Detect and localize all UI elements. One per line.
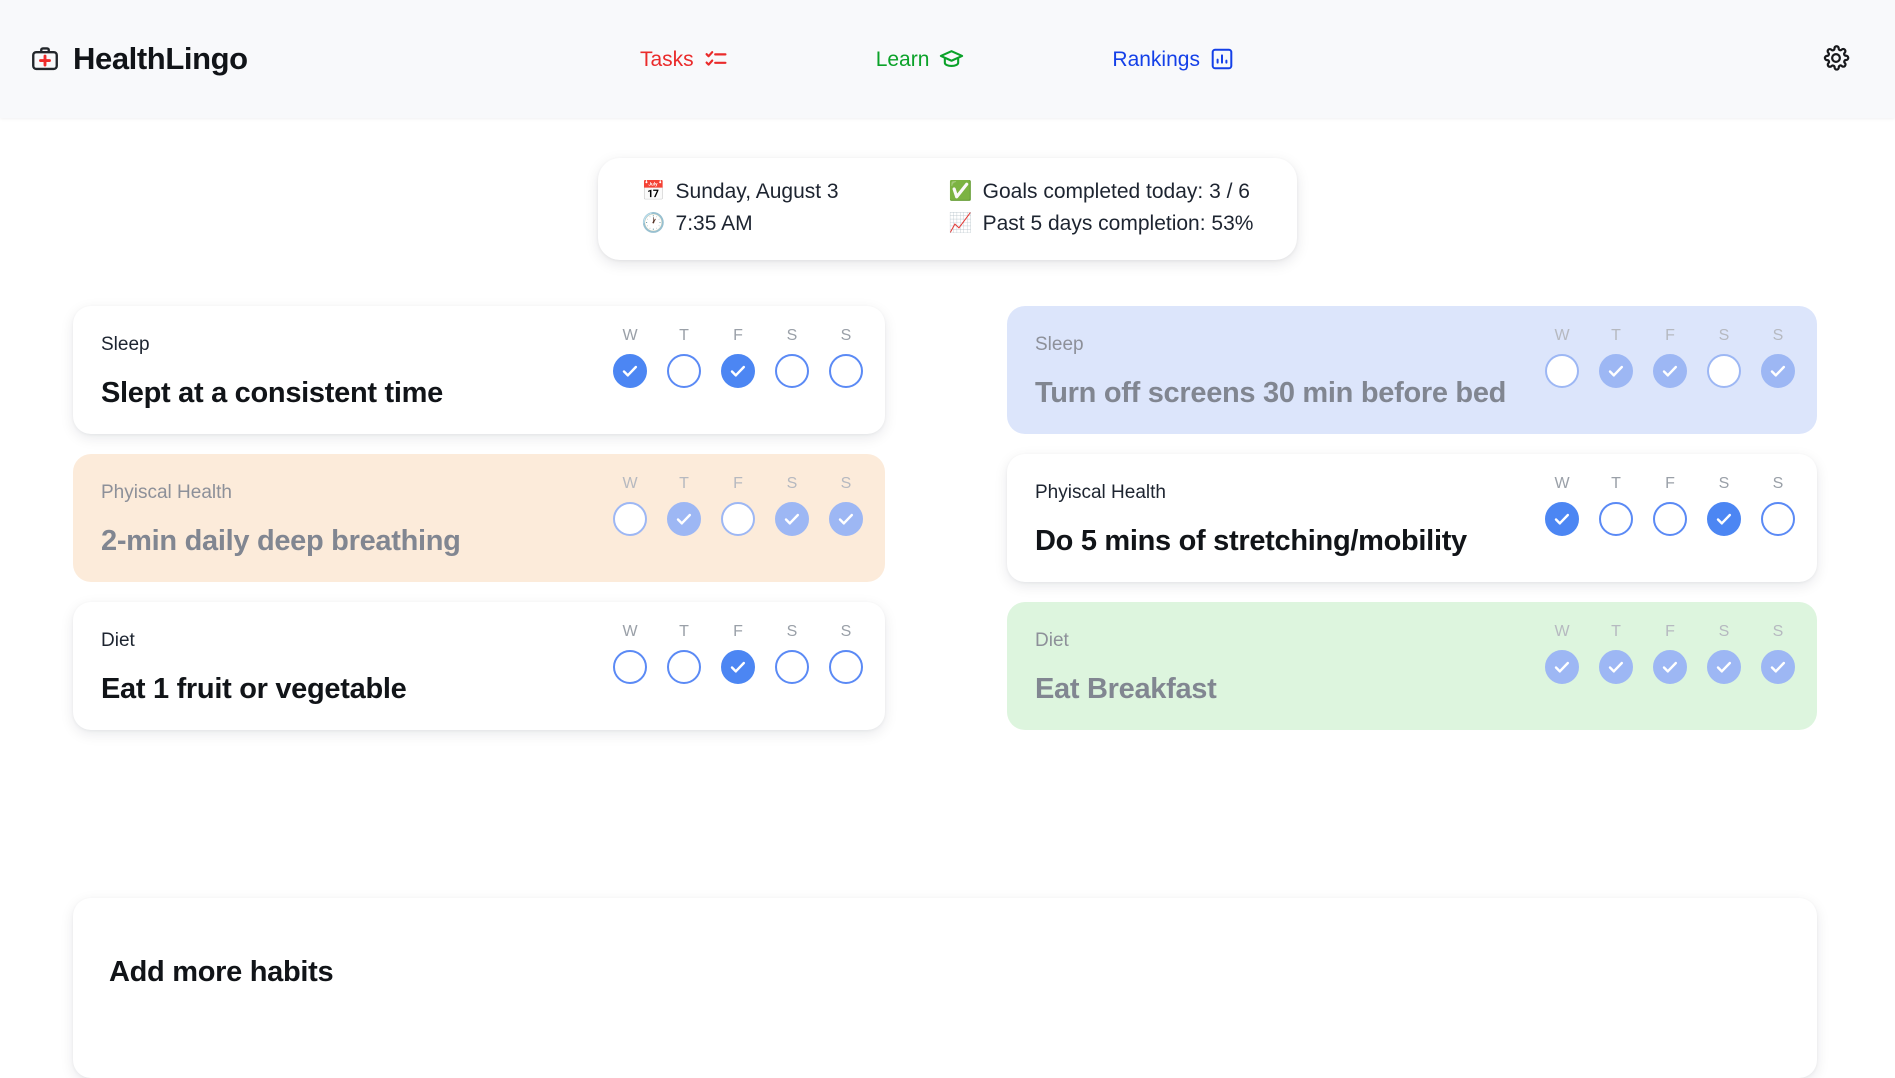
habit-card[interactable]: DietEat 1 fruit or vegetableWTFSS — [73, 602, 885, 730]
day-checkbox-unchecked[interactable] — [775, 354, 809, 388]
status-time-row: 🕐 7:35 AM — [642, 212, 839, 236]
day-label: S — [1773, 328, 1784, 344]
day-checkbox-unchecked[interactable] — [829, 354, 863, 388]
habit-card[interactable]: Phyiscal Health2-min daily deep breathin… — [73, 454, 885, 582]
check-icon — [836, 509, 856, 529]
habit-day-cell: F — [1653, 624, 1687, 684]
check-icon — [620, 361, 640, 381]
day-checkbox-checked[interactable] — [1653, 650, 1687, 684]
habit-week-tracker: WTFSS — [613, 328, 863, 388]
check-icon — [1768, 657, 1788, 677]
day-label: T — [1611, 328, 1621, 344]
habit-day-cell: F — [1653, 328, 1687, 388]
day-checkbox-unchecked[interactable] — [721, 502, 755, 536]
day-label: S — [787, 328, 798, 344]
day-label: S — [1719, 476, 1730, 492]
habit-day-cell: S — [775, 476, 809, 536]
day-label: T — [1611, 624, 1621, 640]
habit-week-tracker: WTFSS — [1545, 476, 1795, 536]
check-icon — [1768, 361, 1788, 381]
habit-day-cell: W — [1545, 624, 1579, 684]
day-checkbox-checked[interactable] — [1545, 502, 1579, 536]
day-label: F — [733, 328, 743, 344]
habit-week-tracker: WTFSS — [613, 476, 863, 536]
habit-day-cell: T — [1599, 624, 1633, 684]
day-checkbox-unchecked[interactable] — [667, 354, 701, 388]
check-icon — [1606, 361, 1626, 381]
day-checkbox-checked[interactable] — [1599, 650, 1633, 684]
day-checkbox-checked[interactable] — [1545, 650, 1579, 684]
check-icon — [728, 361, 748, 381]
chart-up-icon: 📈 — [949, 213, 971, 235]
status-summary-card: 📅 Sunday, August 3 🕐 7:35 AM ✅ Goals com… — [598, 158, 1298, 260]
day-label: W — [1554, 328, 1569, 344]
habit-day-cell: F — [721, 328, 755, 388]
habit-day-cell: S — [775, 328, 809, 388]
habit-day-cell: S — [775, 624, 809, 684]
checklist-icon — [704, 47, 728, 71]
habit-day-cell: T — [667, 328, 701, 388]
day-label: S — [787, 476, 798, 492]
habit-week-tracker: WTFSS — [1545, 328, 1795, 388]
day-label: W — [622, 476, 637, 492]
habit-week-tracker: WTFSS — [613, 624, 863, 684]
bar-chart-icon — [1210, 47, 1234, 71]
check-icon — [674, 509, 694, 529]
day-label: W — [1554, 624, 1569, 640]
day-checkbox-checked[interactable] — [1707, 650, 1741, 684]
day-checkbox-checked[interactable] — [1599, 354, 1633, 388]
gear-icon — [1822, 44, 1850, 75]
day-label: F — [1665, 476, 1675, 492]
day-checkbox-unchecked[interactable] — [613, 502, 647, 536]
habit-day-cell: W — [1545, 328, 1579, 388]
medical-bag-icon — [30, 44, 60, 74]
check-icon — [728, 657, 748, 677]
status-completion-text: Past 5 days completion: 53% — [983, 212, 1254, 236]
brand-title: HealthLingo — [73, 41, 248, 77]
add-more-habits-card[interactable]: Add more habits — [73, 898, 1817, 1078]
habit-day-cell: W — [613, 476, 647, 536]
check-icon — [1660, 361, 1680, 381]
day-label: S — [1719, 624, 1730, 640]
habit-day-cell: W — [1545, 476, 1579, 536]
day-checkbox-checked[interactable] — [1761, 354, 1795, 388]
clock-icon: 🕐 — [642, 213, 664, 235]
day-label: T — [679, 476, 689, 492]
day-label: W — [1554, 476, 1569, 492]
status-bar-wrapper: 📅 Sunday, August 3 🕐 7:35 AM ✅ Goals com… — [0, 158, 1895, 260]
day-checkbox-unchecked[interactable] — [667, 650, 701, 684]
brand-logo[interactable]: HealthLingo — [30, 41, 248, 77]
status-date-row: 📅 Sunday, August 3 — [642, 180, 839, 204]
day-checkbox-checked[interactable] — [1653, 354, 1687, 388]
habit-day-cell: T — [667, 476, 701, 536]
habit-day-cell: S — [1761, 624, 1795, 684]
nav-item-rankings[interactable]: Rankings — [1112, 47, 1234, 71]
day-label: S — [1719, 328, 1730, 344]
habit-grid: SleepSlept at a consistent timeWTFSSSlee… — [0, 306, 1895, 730]
nav-item-tasks-label: Tasks — [640, 49, 694, 70]
day-label: T — [679, 328, 689, 344]
day-checkbox-checked[interactable] — [721, 354, 755, 388]
day-checkbox-unchecked[interactable] — [1707, 354, 1741, 388]
nav-item-learn-label: Learn — [876, 49, 930, 70]
habit-day-cell: S — [829, 328, 863, 388]
habit-day-cell: S — [1707, 476, 1741, 536]
main-nav: Tasks Learn Rankings — [640, 0, 1234, 118]
day-label: S — [787, 624, 798, 640]
add-more-habits-title: Add more habits — [109, 956, 1817, 989]
habit-day-cell: F — [1653, 476, 1687, 536]
day-checkbox-unchecked[interactable] — [775, 650, 809, 684]
day-checkbox-unchecked[interactable] — [613, 650, 647, 684]
check-icon — [1552, 657, 1572, 677]
day-checkbox-unchecked[interactable] — [1761, 502, 1795, 536]
status-goals-text: Goals completed today: 3 / 6 — [983, 180, 1250, 204]
day-label: W — [622, 624, 637, 640]
day-label: F — [1665, 328, 1675, 344]
habit-day-cell: S — [1707, 624, 1741, 684]
day-label: T — [1611, 476, 1621, 492]
check-icon — [1714, 657, 1734, 677]
check-icon — [1660, 657, 1680, 677]
habit-day-cell: T — [1599, 476, 1633, 536]
habit-card[interactable]: DietEat BreakfastWTFSS — [1007, 602, 1817, 730]
day-checkbox-checked[interactable] — [775, 502, 809, 536]
habit-day-cell: S — [829, 624, 863, 684]
habit-day-cell: W — [613, 624, 647, 684]
day-label: F — [1665, 624, 1675, 640]
day-checkbox-unchecked[interactable] — [1653, 502, 1687, 536]
day-checkbox-unchecked[interactable] — [829, 650, 863, 684]
check-icon — [782, 509, 802, 529]
check-icon — [1552, 509, 1572, 529]
habit-day-cell: F — [721, 624, 755, 684]
day-label: S — [1773, 624, 1784, 640]
day-label: F — [733, 624, 743, 640]
day-label: T — [679, 624, 689, 640]
status-date-text: Sunday, August 3 — [676, 180, 839, 204]
day-label: W — [622, 328, 637, 344]
habit-day-cell: W — [613, 328, 647, 388]
habit-day-cell: F — [721, 476, 755, 536]
status-progress-column: ✅ Goals completed today: 3 / 6 📈 Past 5 … — [949, 180, 1254, 236]
habit-card[interactable]: SleepSlept at a consistent timeWTFSS — [73, 306, 885, 434]
status-datetime-column: 📅 Sunday, August 3 🕐 7:35 AM — [642, 180, 839, 236]
habit-day-cell: S — [1761, 328, 1795, 388]
day-label: F — [733, 476, 743, 492]
check-icon — [1714, 509, 1734, 529]
day-checkbox-checked[interactable] — [829, 502, 863, 536]
day-label: S — [841, 328, 852, 344]
day-checkbox-checked[interactable] — [1707, 502, 1741, 536]
status-completion-row: 📈 Past 5 days completion: 53% — [949, 212, 1254, 236]
day-checkbox-unchecked[interactable] — [1545, 354, 1579, 388]
app-header: HealthLingo Tasks Learn Rank — [0, 0, 1895, 118]
day-checkbox-checked[interactable] — [667, 502, 701, 536]
day-checkbox-unchecked[interactable] — [1599, 502, 1633, 536]
nav-item-learn[interactable]: Learn — [876, 47, 965, 72]
calendar-icon: 📅 — [642, 181, 664, 203]
settings-button[interactable] — [1819, 42, 1853, 76]
nav-item-rankings-label: Rankings — [1112, 49, 1200, 70]
status-time-text: 7:35 AM — [676, 212, 753, 236]
habit-card[interactable]: Phyiscal HealthDo 5 mins of stretching/m… — [1007, 454, 1817, 582]
day-checkbox-checked[interactable] — [721, 650, 755, 684]
habit-day-cell: T — [667, 624, 701, 684]
habit-day-cell: S — [829, 476, 863, 536]
habit-card[interactable]: SleepTurn off screens 30 min before bedW… — [1007, 306, 1817, 434]
status-goals-row: ✅ Goals completed today: 3 / 6 — [949, 180, 1254, 204]
nav-item-tasks[interactable]: Tasks — [640, 47, 728, 71]
habit-day-cell: S — [1761, 476, 1795, 536]
day-checkbox-checked[interactable] — [1761, 650, 1795, 684]
day-checkbox-checked[interactable] — [613, 354, 647, 388]
check-icon — [1606, 657, 1626, 677]
day-label: S — [1773, 476, 1784, 492]
habit-day-cell: S — [1707, 328, 1741, 388]
habit-day-cell: T — [1599, 328, 1633, 388]
graduation-cap-icon — [939, 47, 964, 72]
day-label: S — [841, 624, 852, 640]
check-box-icon: ✅ — [949, 181, 971, 203]
habit-week-tracker: WTFSS — [1545, 624, 1795, 684]
day-label: S — [841, 476, 852, 492]
